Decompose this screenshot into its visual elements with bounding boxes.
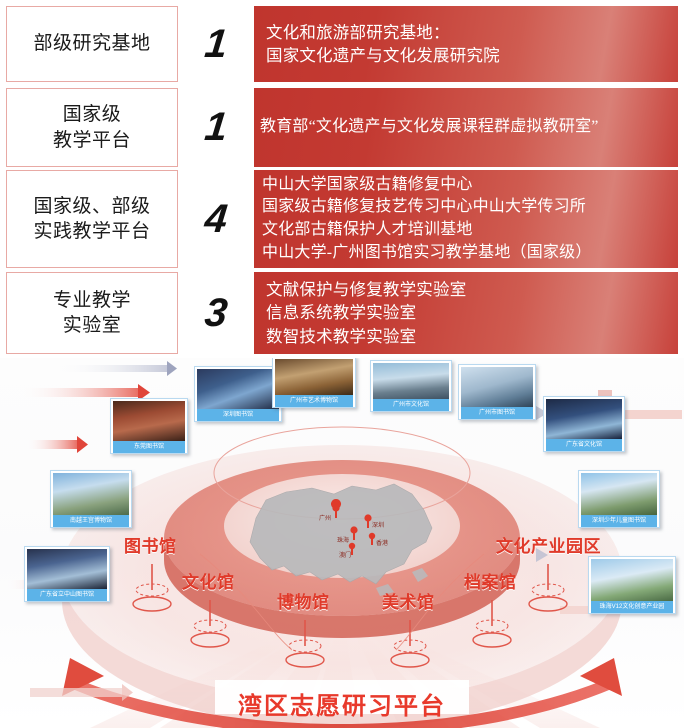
count-cell: 4	[178, 170, 254, 268]
category-cell: 部级研究基地	[6, 6, 178, 82]
photo-card: 深圳图书馆	[194, 366, 282, 422]
photo-image	[581, 473, 657, 515]
category-label: 专业教学 实验室	[53, 288, 131, 338]
photo-image	[546, 399, 622, 439]
items-text: 文献保护与修复教学实验室 信息系统教学实验室 数智技术教学实验室	[266, 278, 466, 348]
map-pin-label-shenzhen: 深圳	[372, 520, 384, 529]
photo-caption: 广东省立中山图书馆	[27, 589, 107, 601]
photo-image	[275, 359, 353, 395]
table-row: 部级研究基地 1 文化和旅游部研究基地： 国家文化遗产与文化发展研究院	[0, 6, 684, 82]
photo-caption: 深圳少年儿童图书馆	[581, 515, 657, 527]
photo-image	[591, 559, 673, 601]
ring-label-art-gallery: 美术馆	[382, 588, 435, 613]
photo-image	[373, 363, 449, 399]
items-cell: 文化和旅游部研究基地： 国家文化遗产与文化发展研究院	[254, 6, 678, 82]
count-cell: 3	[178, 272, 254, 354]
table-row: 专业教学 实验室 3 文献保护与修复教学实验室 信息系统教学实验室 数智技术教学…	[0, 272, 684, 354]
ring-label-cultural-industry-park: 文化产业园区	[496, 532, 601, 557]
count-value: 1	[203, 105, 230, 150]
count-cell: 1	[178, 6, 254, 82]
photo-card: 深圳少年儿童图书馆	[578, 470, 660, 528]
items-cell: 教育部“文化遗产与文化发展课程群虚拟教研室”	[254, 88, 678, 167]
map-pin-label-guangzhou: 广州	[319, 513, 331, 522]
category-cell: 国家级 教学平台	[6, 88, 178, 167]
photo-card: 广州市图书馆	[458, 364, 536, 420]
ring-label-museum: 博物馆	[277, 588, 330, 613]
count-cell: 1	[178, 88, 254, 167]
photo-card: 南越王宫博物馆	[50, 470, 132, 528]
count-value: 1	[203, 22, 230, 67]
photo-card: 珠海V12文化创意产业园	[588, 556, 676, 614]
ring-label-cultural-center: 文化馆	[182, 568, 235, 593]
photo-caption: 广州市文化馆	[373, 399, 449, 411]
photo-caption: 珠海V12文化创意产业园	[591, 601, 673, 613]
photo-card: 广州市文化馆	[370, 360, 452, 412]
category-label: 部级研究基地	[33, 31, 150, 56]
bay-area-diagram: 深圳图书馆 广州市艺术博物馆 广州市文化馆 广州市图书馆 广东省文化馆 东莞图书…	[0, 358, 684, 728]
photo-caption: 深圳图书馆	[197, 409, 279, 421]
items-text: 教育部“文化遗产与文化发展课程群虚拟教研室”	[260, 116, 599, 139]
photo-caption: 广州市艺术博物馆	[275, 395, 353, 407]
map-pin-label-zhuhai: 珠海	[337, 535, 349, 544]
map-pin-label-hongkong: 香港	[376, 538, 388, 547]
category-cell: 国家级、部级 实践教学平台	[6, 170, 178, 268]
items-cell: 文献保护与修复教学实验室 信息系统教学实验室 数智技术教学实验室	[254, 272, 678, 354]
photo-caption: 南越王宫博物馆	[53, 515, 129, 527]
photo-caption: 东莞图书馆	[113, 441, 185, 453]
platform-title: 湾区志愿研习平台	[0, 686, 684, 721]
photo-caption: 广东省文化馆	[546, 439, 622, 451]
count-value: 3	[203, 291, 230, 336]
map-pin-label-macau: 澳门	[339, 550, 351, 559]
photo-caption: 广州市图书馆	[461, 407, 533, 419]
table-row: 国家级、部级 实践教学平台 4 中山大学国家级古籍修复中心 国家级古籍修复技艺传…	[0, 170, 684, 268]
count-value: 4	[203, 197, 230, 242]
photo-image	[27, 549, 107, 589]
category-cell: 专业教学 实验室	[6, 272, 178, 354]
items-text: 文化和旅游部研究基地： 国家文化遗产与文化发展研究院	[266, 21, 500, 68]
photo-image	[113, 401, 185, 441]
category-label: 国家级 教学平台	[53, 102, 131, 152]
items-text: 中山大学国家级古籍修复中心 国家级古籍修复技艺传习中心中山大学传习所 文化部古籍…	[262, 174, 592, 265]
ring-label-library: 图书馆	[124, 532, 177, 557]
photo-card: 广州市艺术博物馆	[272, 358, 356, 408]
table-row: 国家级 教学平台 1 教育部“文化遗产与文化发展课程群虚拟教研室”	[0, 88, 684, 167]
capability-table: 部级研究基地 1 文化和旅游部研究基地： 国家文化遗产与文化发展研究院 国家级 …	[0, 0, 684, 358]
photo-image	[197, 369, 279, 409]
photo-card: 广东省文化馆	[543, 396, 625, 452]
ring-label-archive: 档案馆	[464, 568, 517, 593]
category-label: 国家级、部级 实践教学平台	[33, 194, 150, 244]
photo-image	[461, 367, 533, 407]
items-cell: 中山大学国家级古籍修复中心 国家级古籍修复技艺传习中心中山大学传习所 文化部古籍…	[254, 170, 678, 268]
photo-image	[53, 473, 129, 515]
photo-card: 广东省立中山图书馆	[24, 546, 110, 602]
photo-card: 东莞图书馆	[110, 398, 188, 454]
